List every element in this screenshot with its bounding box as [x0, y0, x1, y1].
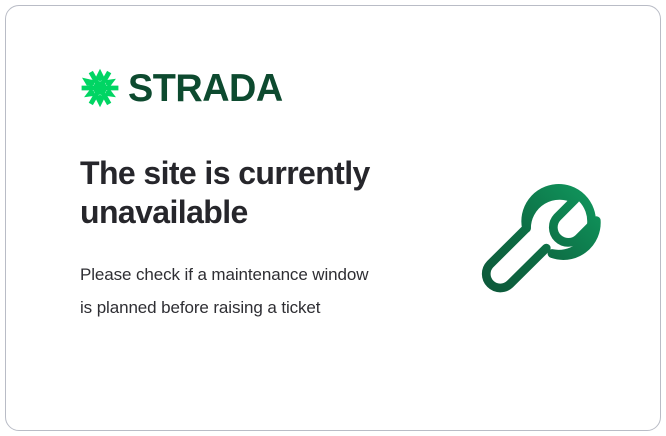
brand-lockup: STRADA [80, 66, 420, 110]
page-title: The site is currently unavailable [80, 154, 410, 232]
brand-wordmark: STRADA [128, 69, 283, 108]
asterisk-snowflake-icon [80, 68, 120, 108]
page-description: Please check if a maintenance window is … [80, 258, 380, 324]
wrench-icon [461, 163, 619, 318]
status-card: STRADA The site is currently unavailable… [5, 5, 661, 431]
error-page: STRADA The site is currently unavailable… [0, 0, 666, 436]
content-column: STRADA The site is currently unavailable… [80, 66, 420, 324]
